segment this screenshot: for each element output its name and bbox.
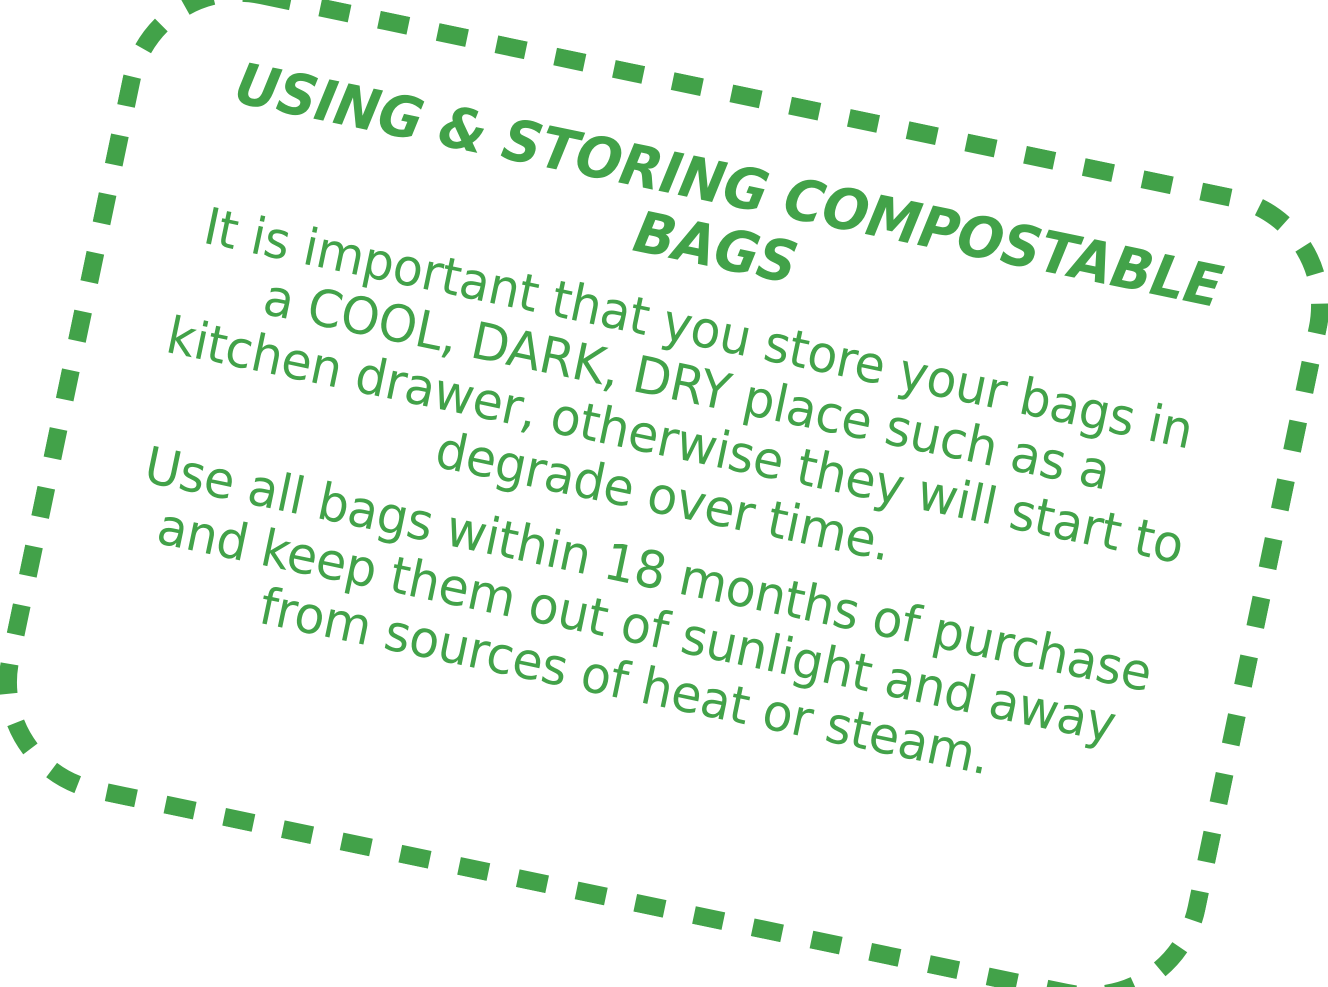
label-canvas: USING & STORING COMPOSTABLE BAGS It is i… (0, 0, 1328, 987)
label-text-block: USING & STORING COMPOSTABLE BAGS It is i… (0, 0, 1328, 987)
compostable-bags-label-card: USING & STORING COMPOSTABLE BAGS It is i… (0, 0, 1328, 987)
